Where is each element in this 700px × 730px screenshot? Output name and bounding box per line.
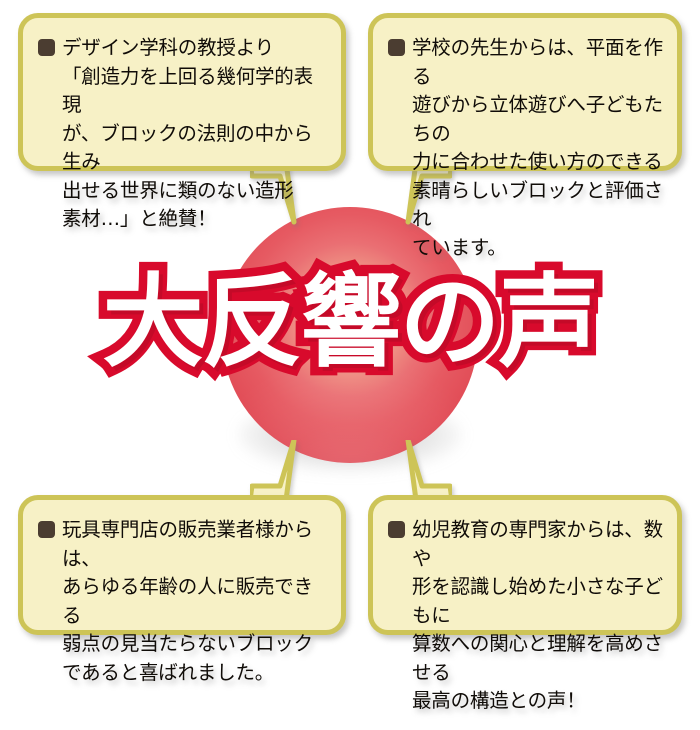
testimonial-bubble-top-right: 学校の先生からは、平面を作る 遊びから立体遊びへ子どもたちの 力に合わせた使い方… (368, 13, 682, 171)
testimonial-bubble-bottom-left: 玩具専門店の販売業者様からは、 あらゆる年齢の人に販売できる 弱点の見当たらない… (18, 495, 346, 635)
square-bullet-icon (38, 521, 55, 538)
testimonial-text: 学校の先生からは、平面を作る 遊びから立体遊びへ子どもたちの 力に合わせた使い方… (412, 34, 663, 262)
testimonial-infographic: 大反響の声 デザイン学科の教授より 「創造力を上回る幾何学的表現 が、ブロックの… (0, 0, 700, 650)
testimonial-text: 幼児教育の専門家からは、数や 形を認識し始めた小さな子どもに 算数への関心と理解… (412, 516, 663, 716)
testimonial-text: デザイン学科の教授より 「創造力を上回る幾何学的表現 が、ブロックの法則の中から… (62, 34, 327, 234)
testimonial-bubble-top-left: デザイン学科の教授より 「創造力を上回る幾何学的表現 が、ブロックの法則の中から… (18, 13, 346, 171)
page-title: 大反響の声 (0, 266, 700, 378)
bubble-tail-bottom-right (382, 440, 452, 502)
testimonial-text: 玩具専門店の販売業者様からは、 あらゆる年齢の人に販売できる 弱点の見当たらない… (62, 516, 327, 687)
bubble-tail-bottom-left (250, 440, 320, 502)
testimonial-bubble-bottom-right: 幼児教育の専門家からは、数や 形を認識し始めた小さな子どもに 算数への関心と理解… (368, 495, 682, 635)
square-bullet-icon (388, 521, 405, 538)
square-bullet-icon (38, 39, 55, 56)
square-bullet-icon (388, 39, 405, 56)
